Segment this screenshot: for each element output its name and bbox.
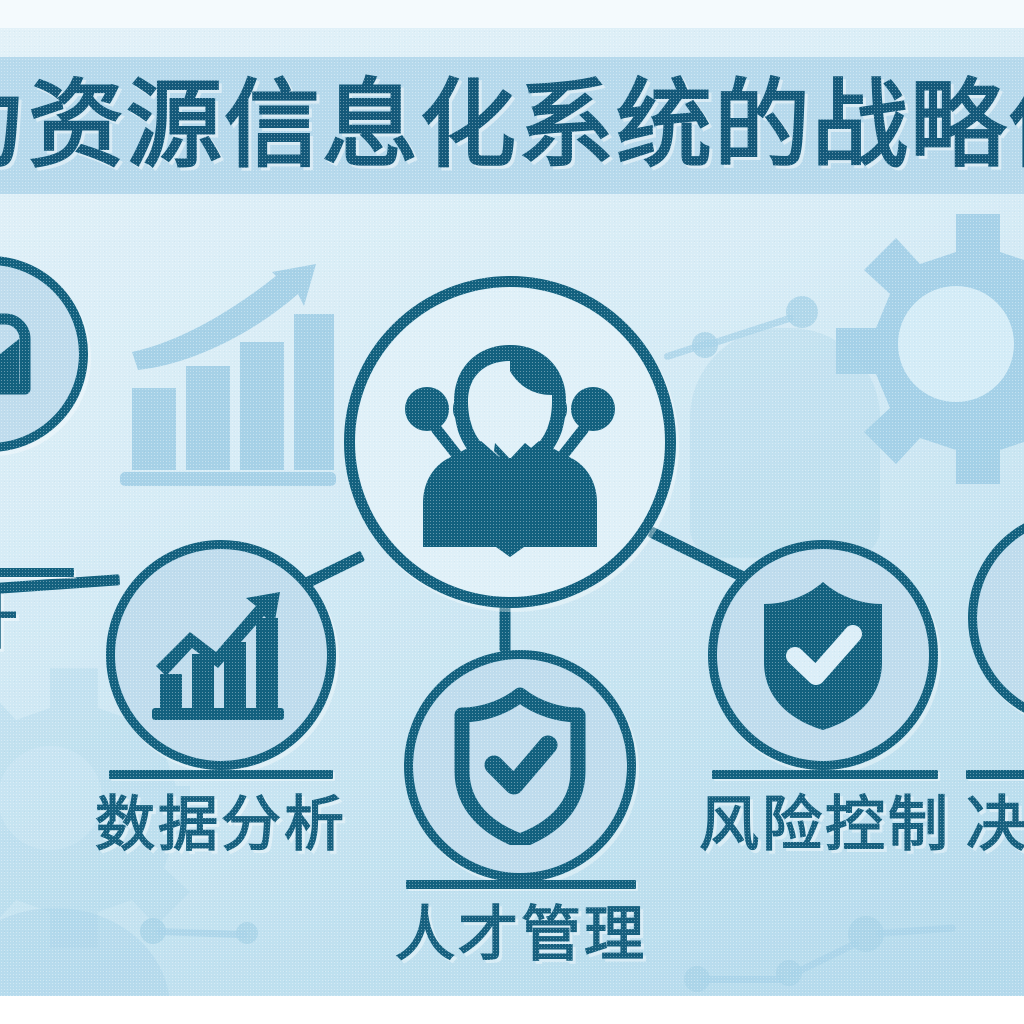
businessman-network-icon <box>385 317 635 567</box>
label-text: 风险控制 <box>696 795 954 855</box>
label-text: 决 <box>966 795 1024 855</box>
node-talent-management[interactable] <box>404 650 636 882</box>
poster-surface: 计 数据分析 人才管理 风险控制 决 人力资源信息化系统的战略价值 <box>0 28 1024 996</box>
network-link-line <box>705 314 795 349</box>
top-margin-strip <box>0 0 1024 28</box>
network-link-line <box>156 928 248 938</box>
label-rule <box>966 770 1024 779</box>
node-data-analysis[interactable] <box>106 540 336 770</box>
gear-top-right-icon <box>826 204 1024 484</box>
label-text: 数据分析 <box>92 795 350 855</box>
label-right-edge-decision: 决 <box>966 770 1024 855</box>
bar-chart-growth-icon <box>146 580 296 730</box>
label-text: 计 <box>0 593 84 653</box>
node-risk-control[interactable] <box>708 540 938 770</box>
label-risk-control: 风险控制 <box>696 770 954 855</box>
label-rule <box>406 880 636 889</box>
shield-check-outline-icon <box>446 687 594 845</box>
poster-canvas: 计 数据分析 人才管理 风险控制 决 人力资源信息化系统的战略价值 <box>0 0 1024 1024</box>
document-circle-icon <box>0 299 45 409</box>
network-link-line <box>788 939 859 979</box>
network-link-line <box>700 976 784 983</box>
node-left-edge-document[interactable] <box>0 256 88 452</box>
bottom-margin-strip <box>0 996 1024 1024</box>
node-center-people[interactable] <box>344 276 676 608</box>
network-node-dot <box>786 296 818 328</box>
page-title: 人力资源信息化系统的战略价值 <box>0 78 1024 174</box>
bar-chart-arrow-decor-icon <box>118 228 338 488</box>
label-rule <box>0 568 74 577</box>
header-band: 人力资源信息化系统的战略价值 <box>0 57 1024 194</box>
label-rule <box>109 770 333 779</box>
node-right-edge-decision[interactable] <box>968 510 1024 726</box>
label-talent-management: 人才管理 <box>392 880 650 965</box>
network-link-line <box>876 924 956 937</box>
label-data-analysis: 数据分析 <box>92 770 350 855</box>
label-left-edge-document: 计 <box>0 568 84 653</box>
partial-circle-icon <box>1011 553 1024 683</box>
label-text: 人才管理 <box>392 905 650 965</box>
label-rule <box>712 770 938 779</box>
person-silhouette-backdrop <box>690 328 880 558</box>
shield-check-solid-icon <box>750 576 896 734</box>
